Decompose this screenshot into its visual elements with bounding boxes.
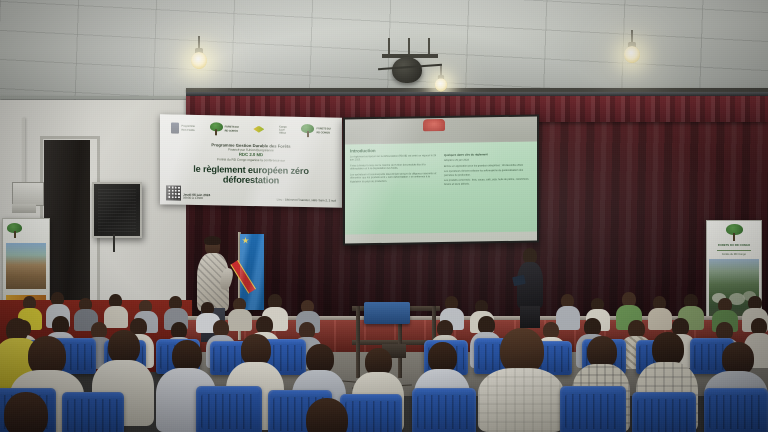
right-poster-caption: Forêts du RD Congo <box>722 253 746 256</box>
chair[interactable] <box>560 386 626 432</box>
chair[interactable] <box>62 392 124 432</box>
conference-hall-photo: ProgrammeRDC Forêts FORETS DURD CONGO Co… <box>0 0 768 432</box>
banner-glare <box>160 114 342 207</box>
wall-box-base <box>12 204 36 213</box>
presenter-hair <box>204 236 221 245</box>
projector-lamp-housing <box>392 57 422 83</box>
right-poster-header: FORETS DU RD CONGO Forêts du RD Congo <box>707 221 761 259</box>
right-poster-logo-text: FORETS DU RD CONGO <box>718 243 750 247</box>
foreground-head-center <box>300 398 358 432</box>
chair-row-front <box>0 382 768 432</box>
bulb-right <box>623 30 641 64</box>
chair[interactable] <box>412 388 476 432</box>
wall-junction-box <box>12 182 44 206</box>
screen-glare <box>345 116 537 243</box>
wall-speaker <box>92 182 142 238</box>
foreground-head-left <box>0 392 58 432</box>
chair[interactable] <box>632 392 696 432</box>
ceiling-projector-mount <box>378 38 442 88</box>
bulb-left <box>190 36 208 70</box>
projection-screen: Introduction Le règlement européen sur l… <box>343 114 539 245</box>
ceiling-beam-left <box>0 96 200 99</box>
wall-conduit <box>22 118 25 184</box>
tree-icon <box>726 224 743 241</box>
event-banner: ProgrammeRDC Forêts FORETS DURD CONGO Co… <box>160 114 342 207</box>
screen-surface: Introduction Le règlement européen sur l… <box>345 116 537 243</box>
chair[interactable] <box>196 386 262 432</box>
left-poster-logo <box>7 223 23 239</box>
speaker-cable <box>113 234 115 252</box>
chair[interactable] <box>704 388 768 432</box>
